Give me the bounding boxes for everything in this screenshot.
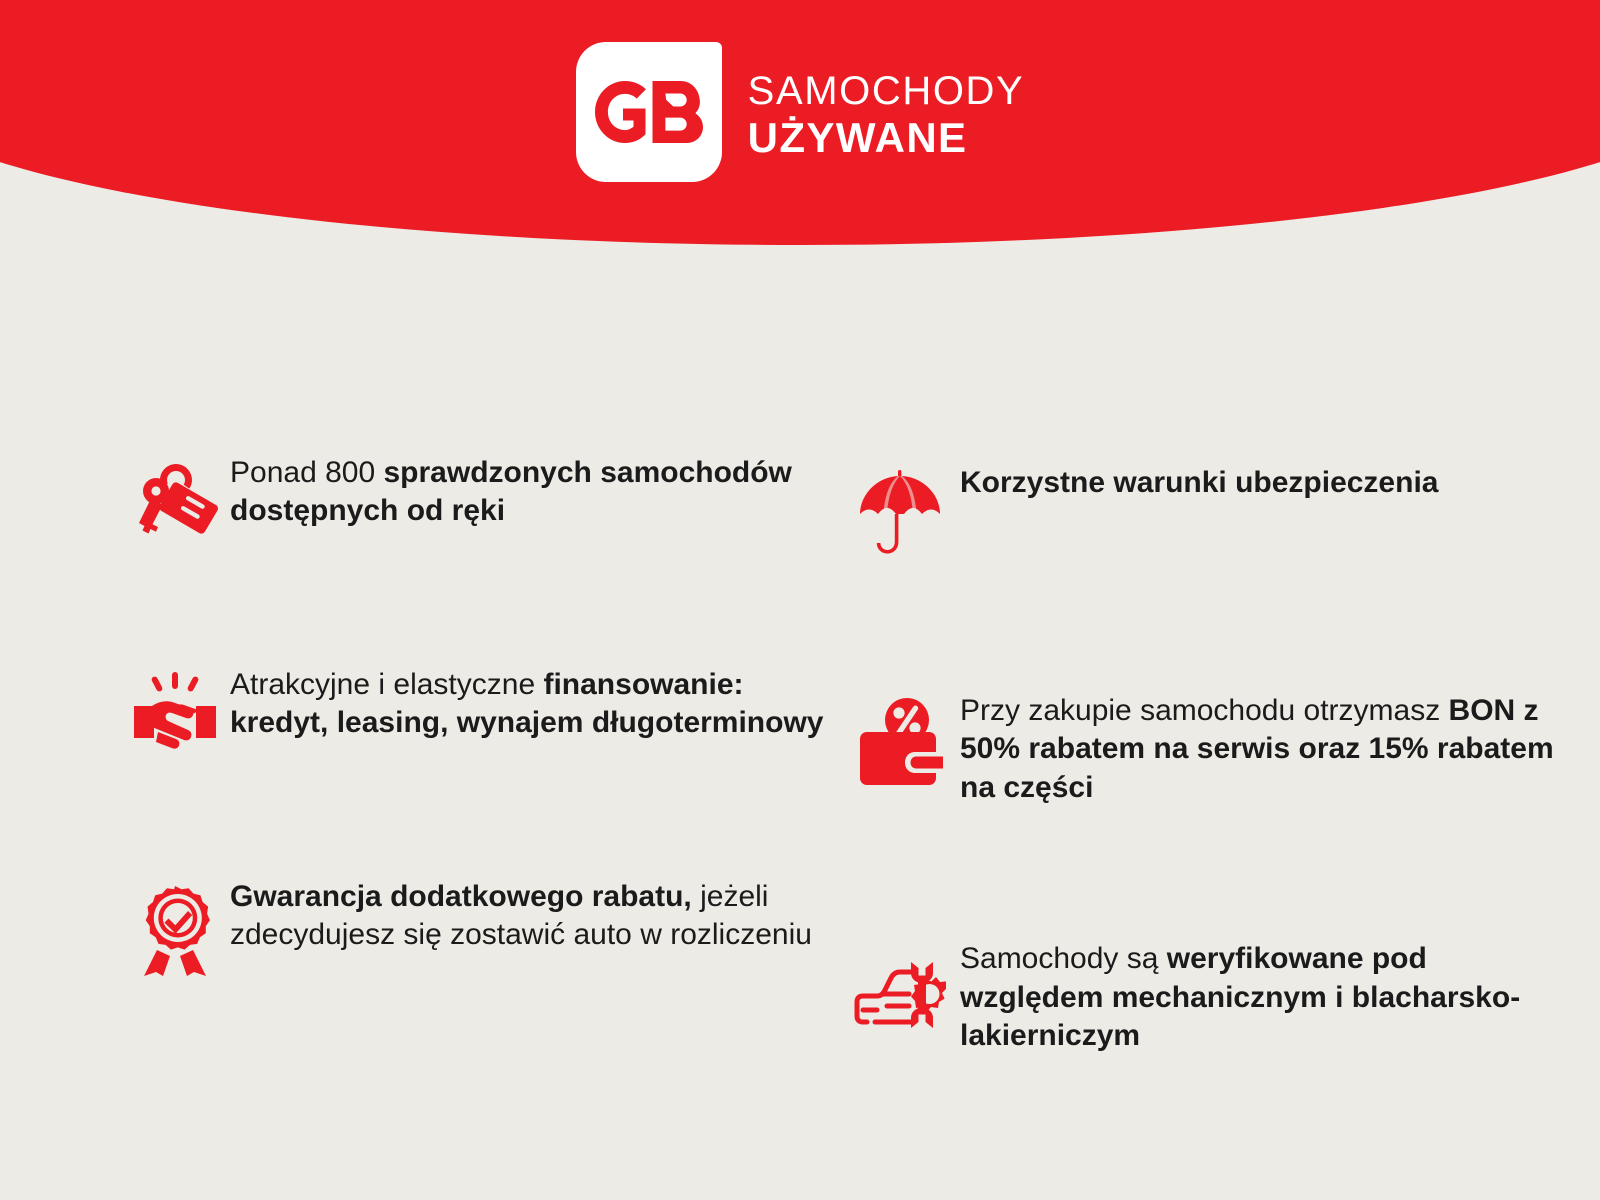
feature-item-trade-in-discount: Gwarancja dodatkowego rabatu, jeżeli zde… — [120, 876, 840, 976]
car-wrench-gear-icon — [840, 938, 960, 1032]
brand-wordmark: SAMOCHODY UŻYWANE — [748, 65, 1025, 159]
feature-text-financing: Atrakcyjne i elastyczne finansowanie: kr… — [230, 664, 830, 743]
gb-logo-mark[interactable] — [576, 42, 722, 182]
feature-item-insurance: Korzystne warunki ubezpieczenia — [840, 462, 1600, 556]
handshake-icon — [120, 664, 230, 752]
feature-text-bold: Korzystne warunki ubezpieczenia — [960, 466, 1438, 499]
brand-line-samochody: SAMOCHODY — [748, 71, 1025, 111]
umbrella-icon — [840, 462, 960, 556]
brand-line-uzywane: UŻYWANE — [748, 117, 1025, 159]
wallet-percent-icon — [840, 690, 960, 788]
feature-text-trade-in-discount: Gwarancja dodatkowego rabatu, jeżeli zde… — [230, 876, 830, 955]
feature-text-normal: Przy zakupie samochodu otrzymasz — [960, 694, 1449, 727]
brand-lockup: SAMOCHODY UŻYWANE — [0, 0, 1600, 250]
award-badge-check-icon — [120, 876, 230, 976]
gb-monogram-icon — [595, 81, 703, 143]
feature-text-normal: Samochody są — [960, 942, 1167, 975]
feature-text-service-voucher: Przy zakupie samochodu otrzymasz BON z 5… — [960, 690, 1560, 807]
feature-text-bold: Gwarancja dodatkowego rabatu, — [230, 880, 692, 913]
feature-column-right: Korzystne warunki ubezpieczenia — [840, 440, 1600, 1081]
feature-text-inspection: Samochody są weryfikowane pod względem m… — [960, 938, 1560, 1055]
feature-text-available-cars: Ponad 800 sprawdzonych samochodów dostęp… — [230, 452, 830, 531]
car-key-with-tag-icon — [120, 452, 230, 540]
feature-text-normal: Atrakcyjne i elastyczne — [230, 668, 543, 701]
feature-text-normal: Ponad 800 — [230, 456, 383, 489]
feature-column-left: Ponad 800 sprawdzonych samochodów dostęp… — [120, 440, 840, 1081]
feature-item-inspection: Samochody są weryfikowane pod względem m… — [840, 938, 1600, 1055]
feature-item-service-voucher: Przy zakupie samochodu otrzymasz BON z 5… — [840, 690, 1600, 807]
feature-item-available-cars: Ponad 800 sprawdzonych samochodów dostęp… — [120, 452, 840, 540]
feature-text-insurance: Korzystne warunki ubezpieczenia — [960, 462, 1438, 502]
feature-item-financing: Atrakcyjne i elastyczne finansowanie: kr… — [120, 664, 840, 752]
feature-grid: Ponad 800 sprawdzonych samochodów dostęp… — [0, 440, 1600, 1081]
